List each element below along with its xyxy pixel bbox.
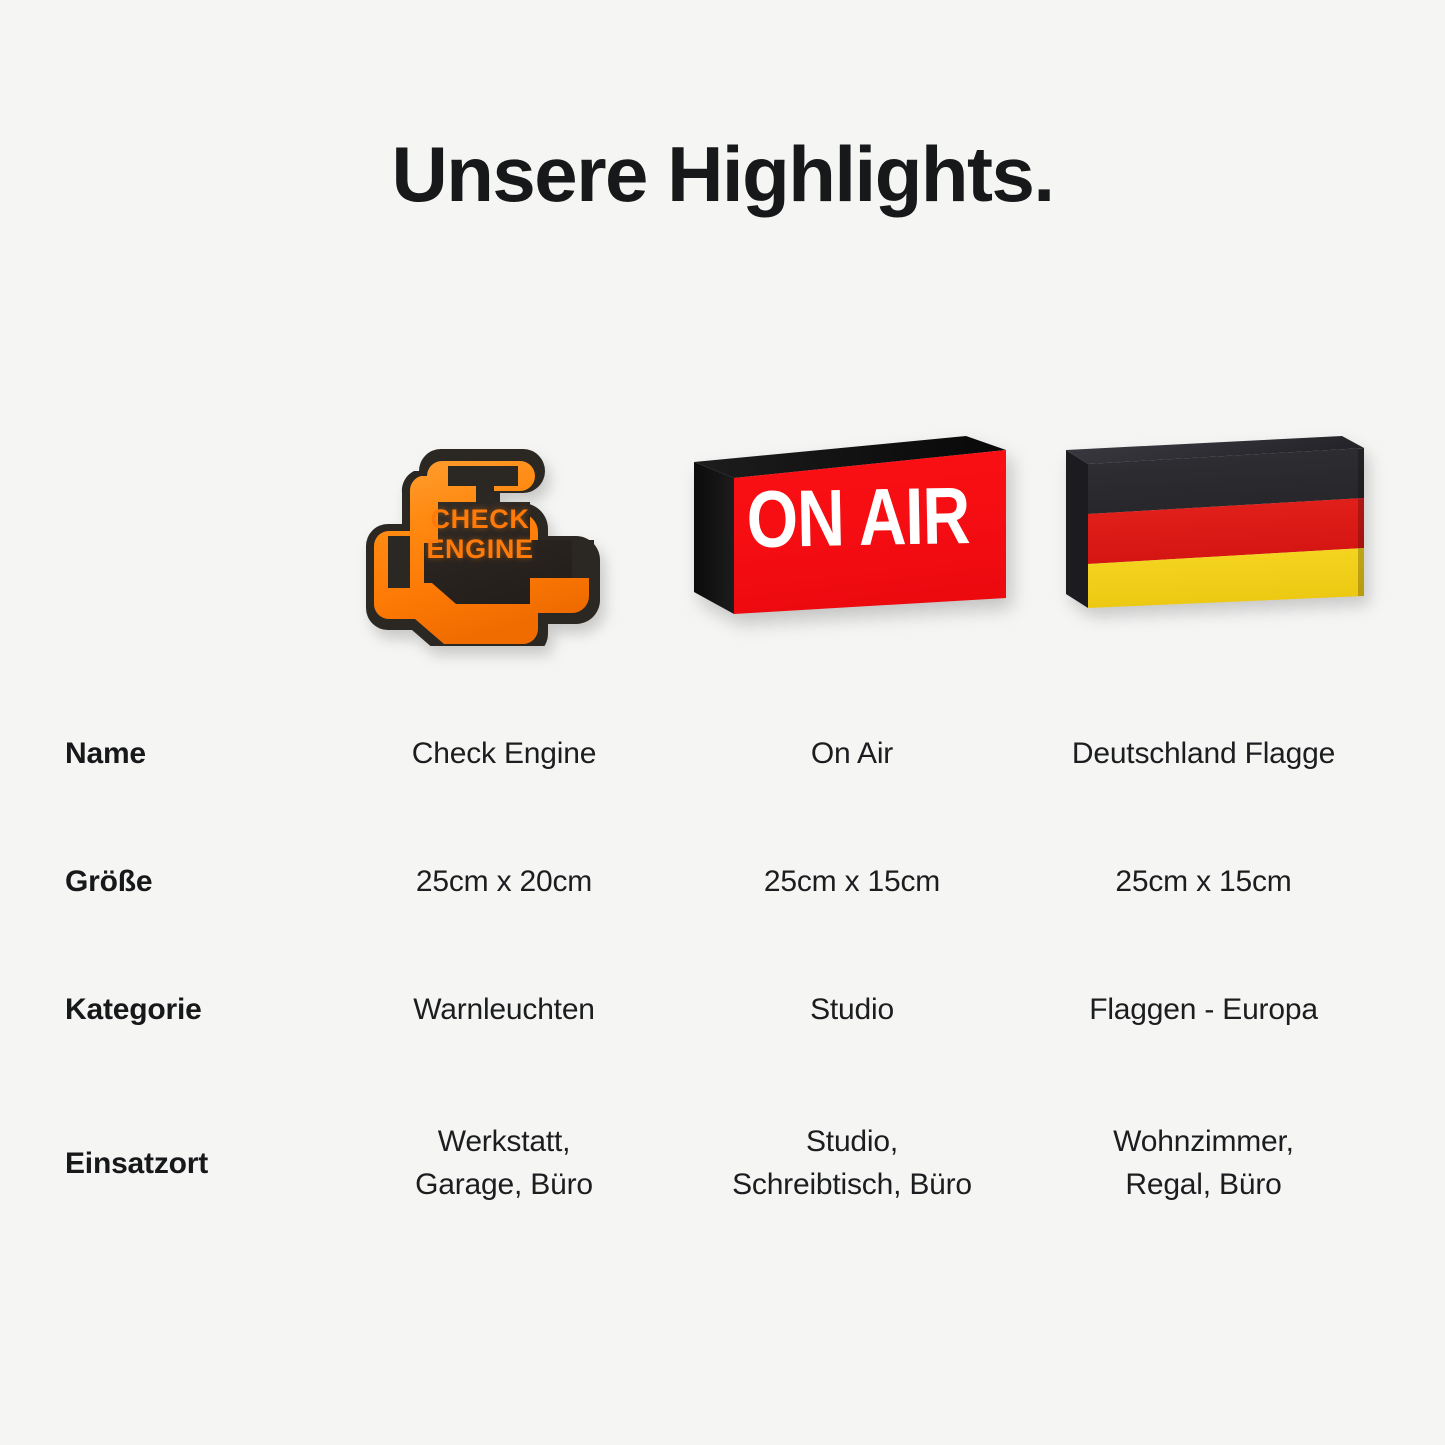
cell-usage-check-engine-line2: Garage, Büro [330, 1164, 678, 1207]
row-label-size: Größe [0, 865, 330, 899]
cell-name-check-engine: Check Engine [330, 733, 678, 776]
on-air-lightbox-icon: ON AIR [688, 424, 1008, 636]
cell-usage-on-air-line2: Schreibtisch, Büro [678, 1164, 1026, 1207]
product-image-deutschland-flagge[interactable] [1022, 400, 1372, 670]
cell-category-deutschland-flagge: Flaggen - Europa [1026, 989, 1381, 1032]
product-image-on-air[interactable]: ON AIR [666, 400, 1016, 670]
cell-usage-deutschland-flagge: Wohnzimmer, Regal, Büro [1026, 1121, 1381, 1206]
page-title: Unsere Highlights. [0, 132, 1445, 218]
row-label-category: Kategorie [0, 993, 330, 1027]
cell-size-on-air: 25cm x 15cm [678, 861, 1026, 904]
cell-category-on-air: Studio [678, 989, 1026, 1032]
cell-usage-deutschland-flagge-line2: Regal, Büro [1026, 1164, 1381, 1207]
check-engine-lamp-icon: CHECK ENGINE [326, 414, 646, 646]
table-row-size: Größe 25cm x 20cm 25cm x 15cm 25cm x 15c… [0, 818, 1445, 946]
row-label-usage: Einsatzort [0, 1147, 330, 1181]
product-image-row: CHECK ENGINE [0, 400, 1445, 670]
highlights-page: Unsere Highlights. [0, 0, 1445, 1445]
cell-usage-deutschland-flagge-line1: Wohnzimmer, [1026, 1121, 1381, 1164]
cell-usage-on-air-line1: Studio, [678, 1121, 1026, 1164]
product-image-check-engine[interactable]: CHECK ENGINE [318, 400, 668, 670]
cell-name-on-air: On Air [678, 733, 1026, 776]
cell-usage-check-engine: Werkstatt, Garage, Büro [330, 1121, 678, 1206]
spec-table: Name Check Engine On Air Deutschland Fla… [0, 690, 1445, 1254]
table-row-name: Name Check Engine On Air Deutschland Fla… [0, 690, 1445, 818]
table-row-usage: Einsatzort Werkstatt, Garage, Büro Studi… [0, 1074, 1445, 1254]
cell-size-check-engine: 25cm x 20cm [330, 861, 678, 904]
table-row-category: Kategorie Warnleuchten Studio Flaggen - … [0, 946, 1445, 1074]
germany-flag-lightbox-icon [1052, 422, 1368, 630]
cell-category-check-engine: Warnleuchten [330, 989, 678, 1032]
row-label-name: Name [0, 737, 330, 771]
cell-usage-check-engine-line1: Werkstatt, [330, 1121, 678, 1164]
cell-usage-on-air: Studio, Schreibtisch, Büro [678, 1121, 1026, 1206]
cell-name-deutschland-flagge: Deutschland Flagge [1026, 733, 1381, 776]
cell-size-deutschland-flagge: 25cm x 15cm [1026, 861, 1381, 904]
